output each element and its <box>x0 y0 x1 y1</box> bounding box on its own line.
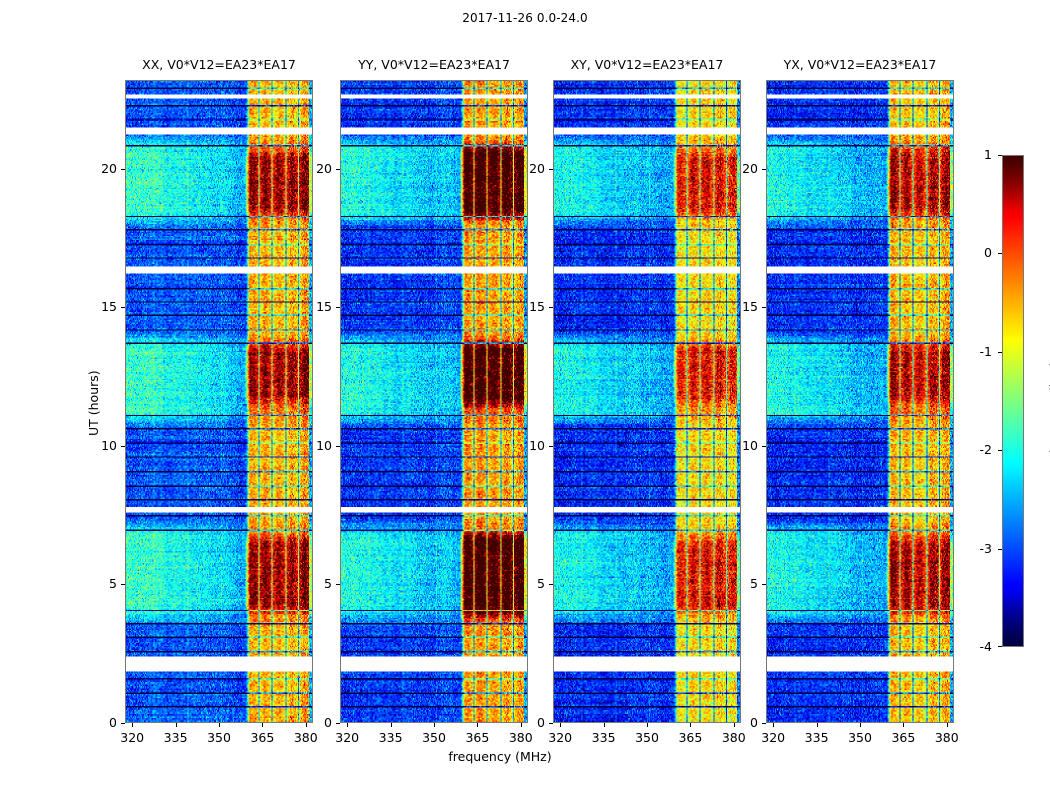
ytick-label: 0 <box>724 715 758 730</box>
colorbar-tick-label: -2 <box>962 442 992 457</box>
y-axis-label: UT (hours) <box>86 370 101 436</box>
ytick-mark <box>762 307 766 308</box>
waterfall-panel-yy[interactable] <box>340 80 528 723</box>
colorbar-tick-mark <box>998 549 1002 550</box>
xtick-label: 350 <box>840 730 880 745</box>
ytick-mark <box>121 446 125 447</box>
xtick-label: 380 <box>714 730 754 745</box>
waterfall-image-xx <box>126 81 312 722</box>
colorbar-tick-label: 1 <box>962 147 992 162</box>
colorbar[interactable] <box>1002 155 1024 647</box>
ytick-mark <box>336 584 340 585</box>
colorbar-tick-label: 0 <box>962 245 992 260</box>
ytick-label: 15 <box>298 299 332 314</box>
xtick-label: 335 <box>584 730 624 745</box>
waterfall-panel-yx[interactable] <box>766 80 954 723</box>
xtick-mark <box>690 723 691 727</box>
ytick-mark <box>336 446 340 447</box>
xtick-mark <box>560 723 561 727</box>
waterfall-image-yx <box>767 81 953 722</box>
xtick-label: 335 <box>371 730 411 745</box>
ytick-label: 5 <box>298 576 332 591</box>
waterfall-image-xy <box>554 81 740 722</box>
xtick-mark <box>176 723 177 727</box>
figure-suptitle: 2017-11-26 0.0-24.0 <box>0 11 1050 25</box>
ytick-mark <box>121 307 125 308</box>
xtick-label: 380 <box>927 730 967 745</box>
xtick-label: 380 <box>501 730 541 745</box>
xtick-label: 365 <box>883 730 923 745</box>
xtick-label: 350 <box>414 730 454 745</box>
xtick-label: 335 <box>156 730 196 745</box>
ytick-mark <box>121 584 125 585</box>
waterfall-panel-xy[interactable] <box>553 80 741 723</box>
colorbar-gradient <box>1002 155 1024 647</box>
xtick-mark <box>434 723 435 727</box>
ytick-label: 20 <box>83 161 117 176</box>
ytick-mark <box>549 723 553 724</box>
colorbar-tick-label: -4 <box>962 639 992 654</box>
panel-title-xx: XX, V0*V12=EA23*EA17 <box>109 57 329 72</box>
xtick-label: 365 <box>670 730 710 745</box>
xtick-mark <box>219 723 220 727</box>
xtick-mark <box>903 723 904 727</box>
ytick-label: 5 <box>724 576 758 591</box>
ytick-mark <box>549 169 553 170</box>
ytick-label: 0 <box>83 715 117 730</box>
xtick-mark <box>773 723 774 727</box>
ytick-label: 0 <box>511 715 545 730</box>
ytick-mark <box>762 584 766 585</box>
colorbar-tick-mark <box>998 253 1002 254</box>
ytick-mark <box>336 307 340 308</box>
xtick-label: 320 <box>753 730 793 745</box>
waterfall-image-yy <box>341 81 527 722</box>
xtick-mark <box>262 723 263 727</box>
xtick-mark <box>132 723 133 727</box>
xtick-label: 380 <box>286 730 326 745</box>
ytick-mark <box>762 723 766 724</box>
ytick-mark <box>549 584 553 585</box>
colorbar-tick-mark <box>998 155 1002 156</box>
xtick-mark <box>647 723 648 727</box>
ytick-mark <box>336 723 340 724</box>
xtick-mark <box>860 723 861 727</box>
ytick-label: 20 <box>511 161 545 176</box>
ytick-label: 10 <box>724 438 758 453</box>
ytick-mark <box>549 446 553 447</box>
ytick-label: 10 <box>511 438 545 453</box>
ytick-label: 10 <box>298 438 332 453</box>
colorbar-tick-mark <box>998 450 1002 451</box>
ytick-label: 5 <box>83 576 117 591</box>
ytick-label: 15 <box>511 299 545 314</box>
xtick-label: 320 <box>327 730 367 745</box>
ytick-mark <box>336 169 340 170</box>
xtick-mark <box>347 723 348 727</box>
colorbar-tick-label: -3 <box>962 541 992 556</box>
ytick-label: 15 <box>83 299 117 314</box>
ytick-label: 20 <box>724 161 758 176</box>
xtick-label: 350 <box>199 730 239 745</box>
ytick-label: 15 <box>724 299 758 314</box>
ytick-mark <box>121 723 125 724</box>
xtick-mark <box>477 723 478 727</box>
colorbar-tick-label: -1 <box>962 344 992 359</box>
ytick-mark <box>549 307 553 308</box>
xtick-label: 320 <box>540 730 580 745</box>
colorbar-tick-mark <box>998 352 1002 353</box>
xtick-label: 335 <box>797 730 837 745</box>
panel-title-xy: XY, V0*V12=EA23*EA17 <box>537 57 757 72</box>
ytick-label: 0 <box>298 715 332 730</box>
panel-title-yy: YY, V0*V12=EA23*EA17 <box>324 57 544 72</box>
ytick-label: 10 <box>83 438 117 453</box>
xtick-label: 365 <box>242 730 282 745</box>
figure-canvas: 2017-11-26 0.0-24.0 XX, V0*V12=EA23*EA17… <box>0 0 1050 800</box>
ytick-mark <box>121 169 125 170</box>
waterfall-panel-xx[interactable] <box>125 80 313 723</box>
ytick-mark <box>762 169 766 170</box>
x-axis-label: frequency (MHz) <box>390 749 610 764</box>
xtick-label: 350 <box>627 730 667 745</box>
xtick-mark <box>391 723 392 727</box>
panel-title-yx: YX, V0*V12=EA23*EA17 <box>750 57 970 72</box>
ytick-label: 5 <box>511 576 545 591</box>
xtick-mark <box>817 723 818 727</box>
xtick-label: 320 <box>112 730 152 745</box>
xtick-label: 365 <box>457 730 497 745</box>
xtick-mark <box>947 723 948 727</box>
colorbar-tick-mark <box>998 646 1002 647</box>
xtick-mark <box>604 723 605 727</box>
ytick-mark <box>762 446 766 447</box>
ytick-label: 20 <box>298 161 332 176</box>
